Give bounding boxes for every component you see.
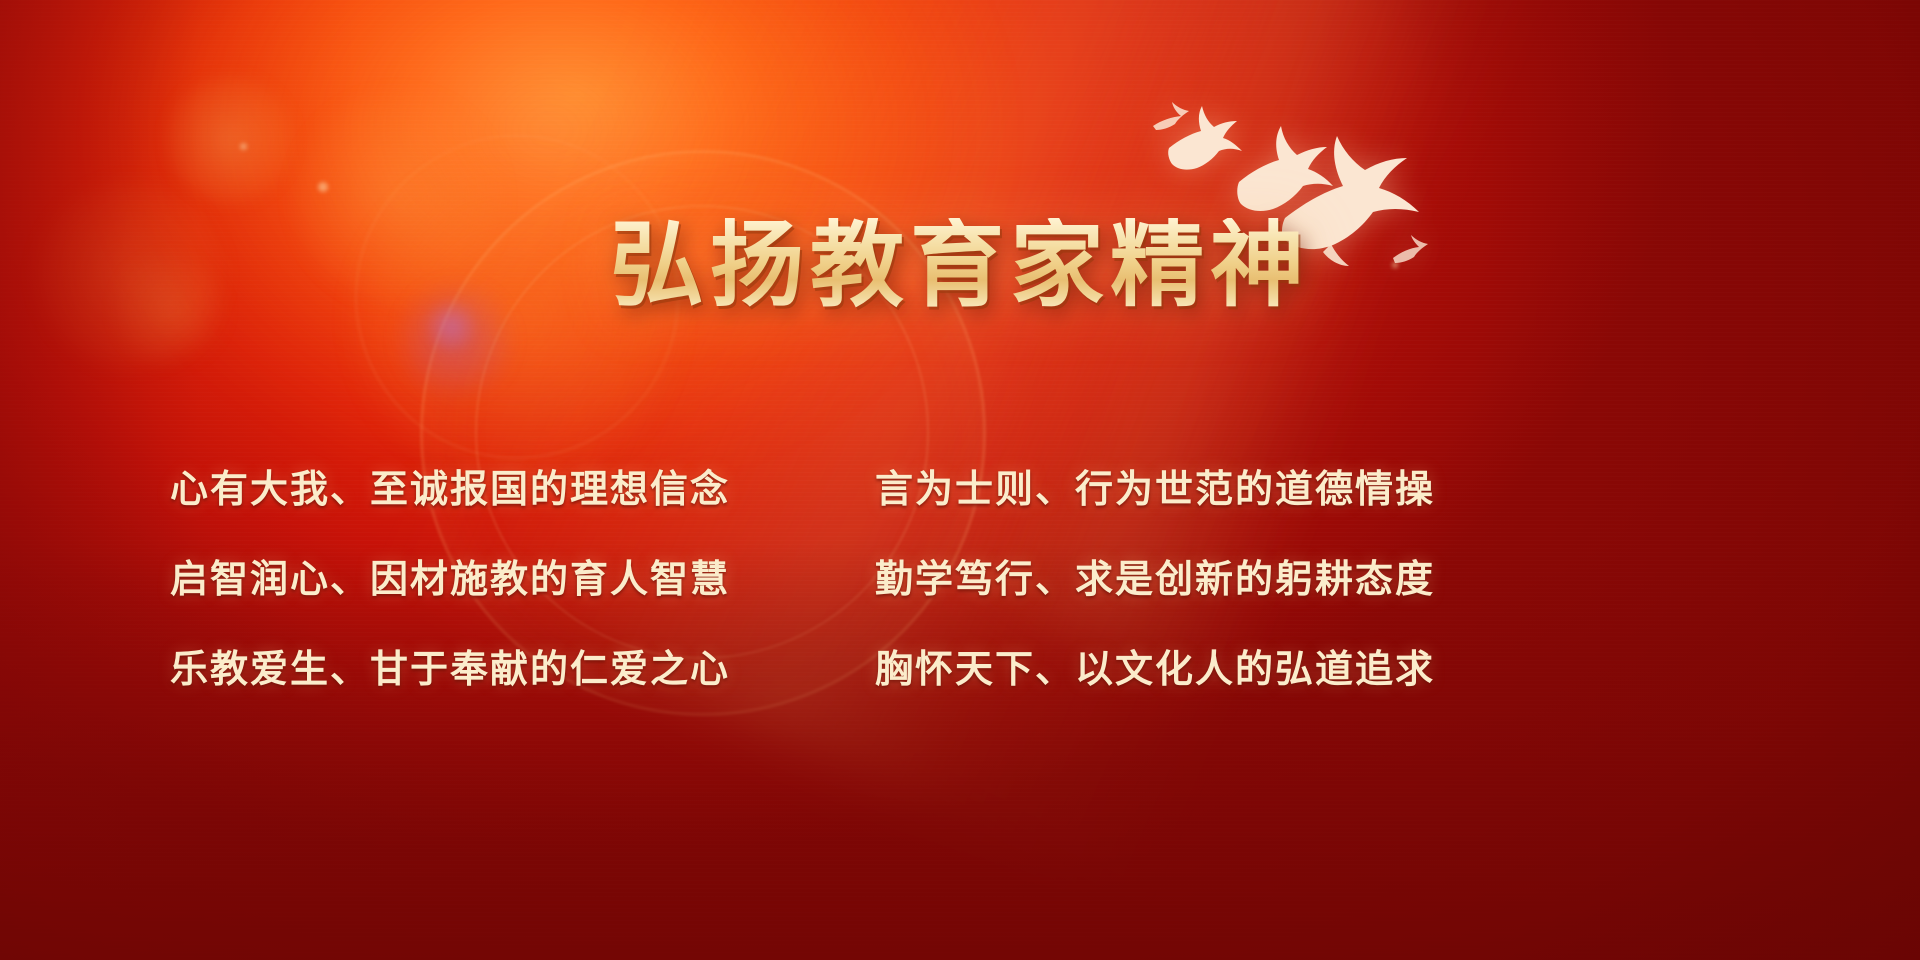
slogan-row-3-left: 乐教爱生、甘于奉献的仁爱之心: [150, 638, 730, 693]
banner-title-area: 弘扬教育家精神: [0, 218, 1920, 312]
slogan-row-2-left: 启智润心、因材施教的育人智慧: [150, 548, 730, 603]
banner-title: 弘扬教育家精神: [610, 218, 1310, 312]
slogan-row-1-left: 心有大我、至诚报国的理想信念: [150, 458, 730, 513]
slogan-grid: 心有大我、至诚报国的理想信念 言为士则、行为世范的道德情操 启智润心、因材施教的…: [150, 440, 1470, 710]
slogan-row-3-right: 胸怀天下、以文化人的弘道追求: [850, 638, 1435, 693]
slogan-row-1-right: 言为士则、行为世范的道德情操: [850, 458, 1435, 513]
slogan-row-2-right: 勤学笃行、求是创新的躬耕态度: [850, 548, 1435, 603]
banner-canvas: 弘扬教育家精神 心有大我、至诚报国的理想信念 言为士则、行为世范的道德情操 启智…: [0, 0, 1920, 960]
